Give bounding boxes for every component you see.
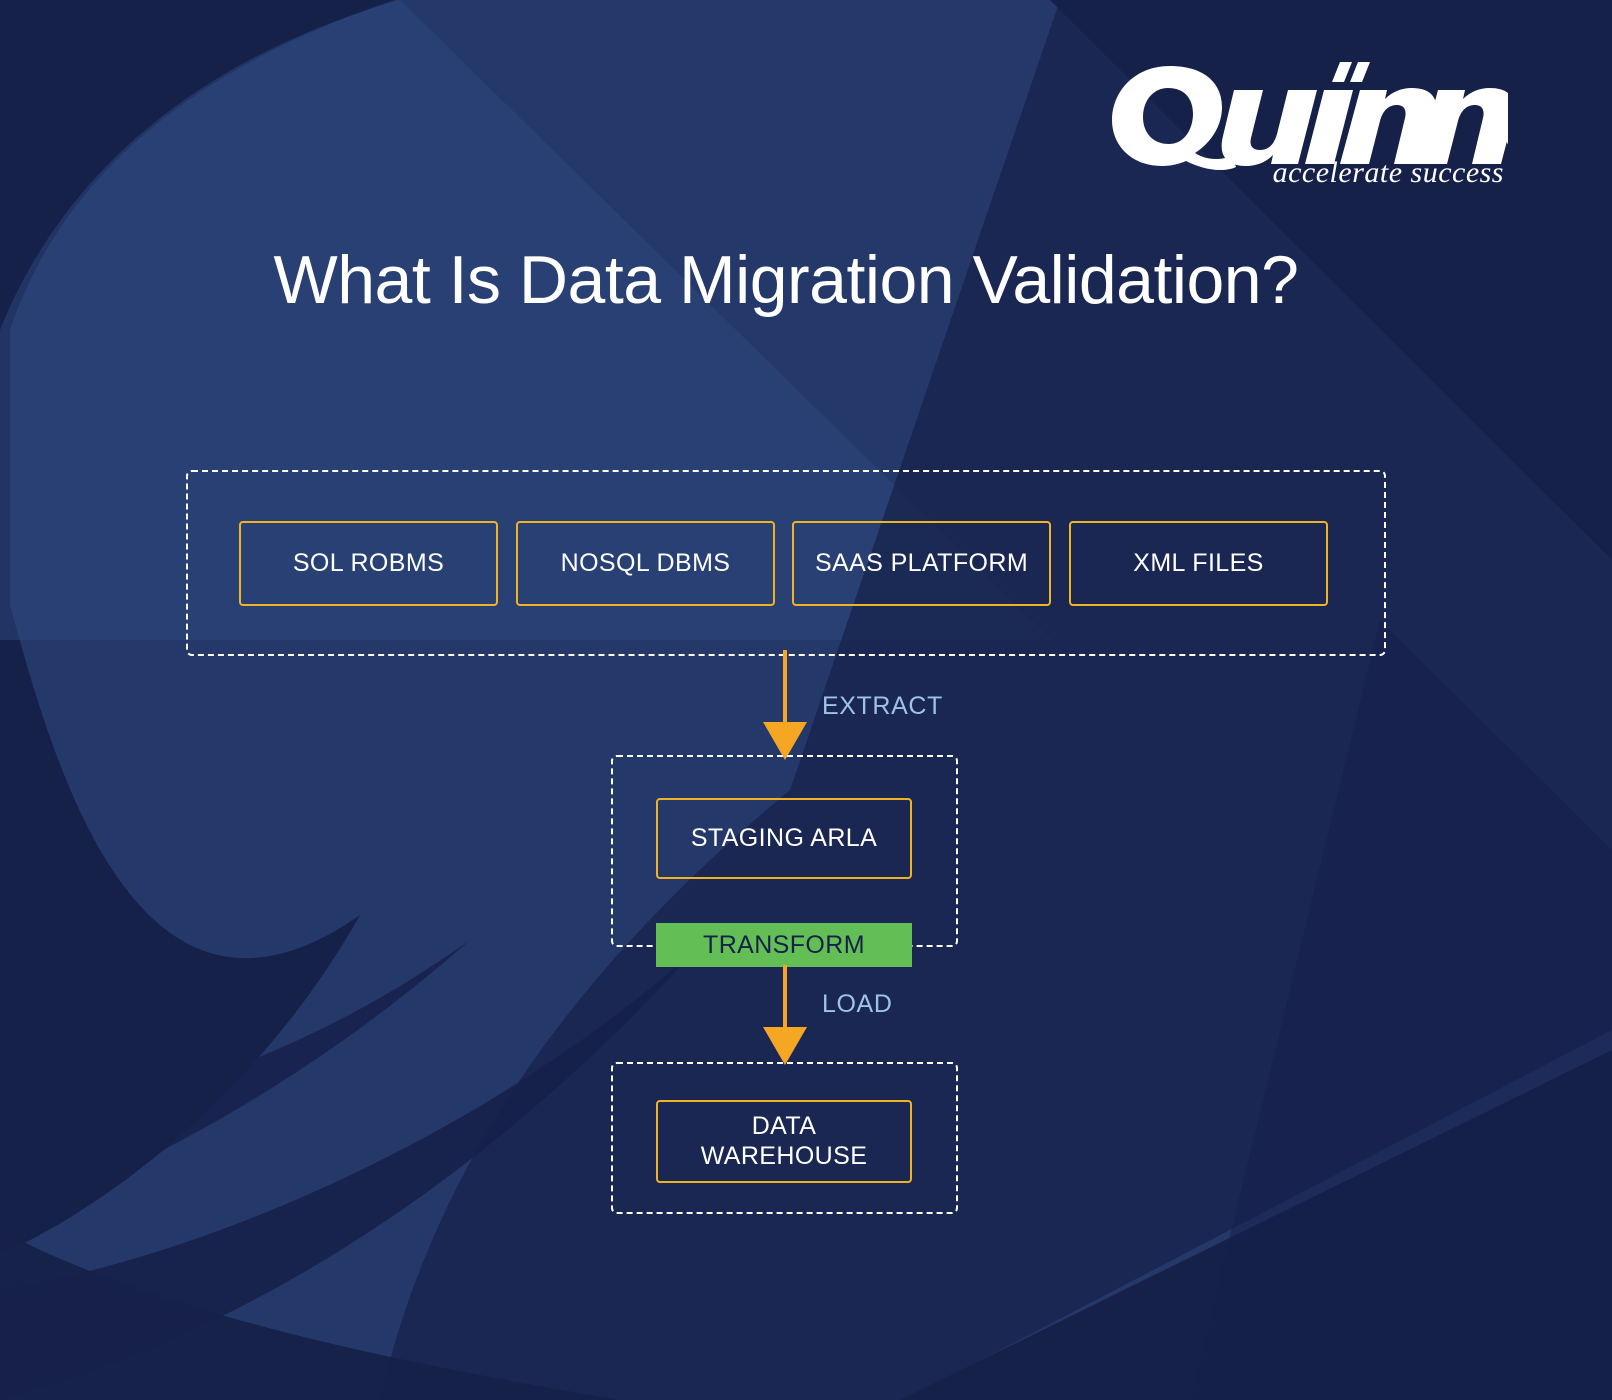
- load-label: LOAD: [822, 990, 892, 1019]
- extract-arrow-icon: [755, 650, 815, 760]
- data-warehouse-line2: WAREHOUSE: [701, 1142, 868, 1170]
- slide-canvas: accelerate success What Is Data Migratio…: [0, 0, 1612, 1400]
- load-arrow-icon: [755, 965, 815, 1065]
- transform-node[interactable]: TRANSFORM: [656, 923, 912, 967]
- data-warehouse-node[interactable]: DATA WAREHOUSE: [656, 1100, 912, 1183]
- source-node-nosql-dbms[interactable]: NOSQL DBMS: [516, 521, 775, 606]
- data-warehouse-line1: DATA: [752, 1112, 817, 1140]
- staging-area-node[interactable]: STAGING ARLA: [656, 798, 912, 879]
- extract-label: EXTRACT: [822, 692, 943, 721]
- source-node-saas-platform[interactable]: SAAS PLATFORM: [792, 521, 1051, 606]
- source-node-xml-files[interactable]: XML FILES: [1069, 521, 1328, 606]
- logo-tagline-text: accelerate success: [1273, 156, 1504, 187]
- quinnox-logo-icon: accelerate success: [1108, 62, 1508, 187]
- page-title: What Is Data Migration Validation?: [0, 246, 1612, 314]
- quinnox-logo: accelerate success: [1108, 62, 1508, 187]
- source-node-sol-robms[interactable]: SOL ROBMS: [239, 521, 498, 606]
